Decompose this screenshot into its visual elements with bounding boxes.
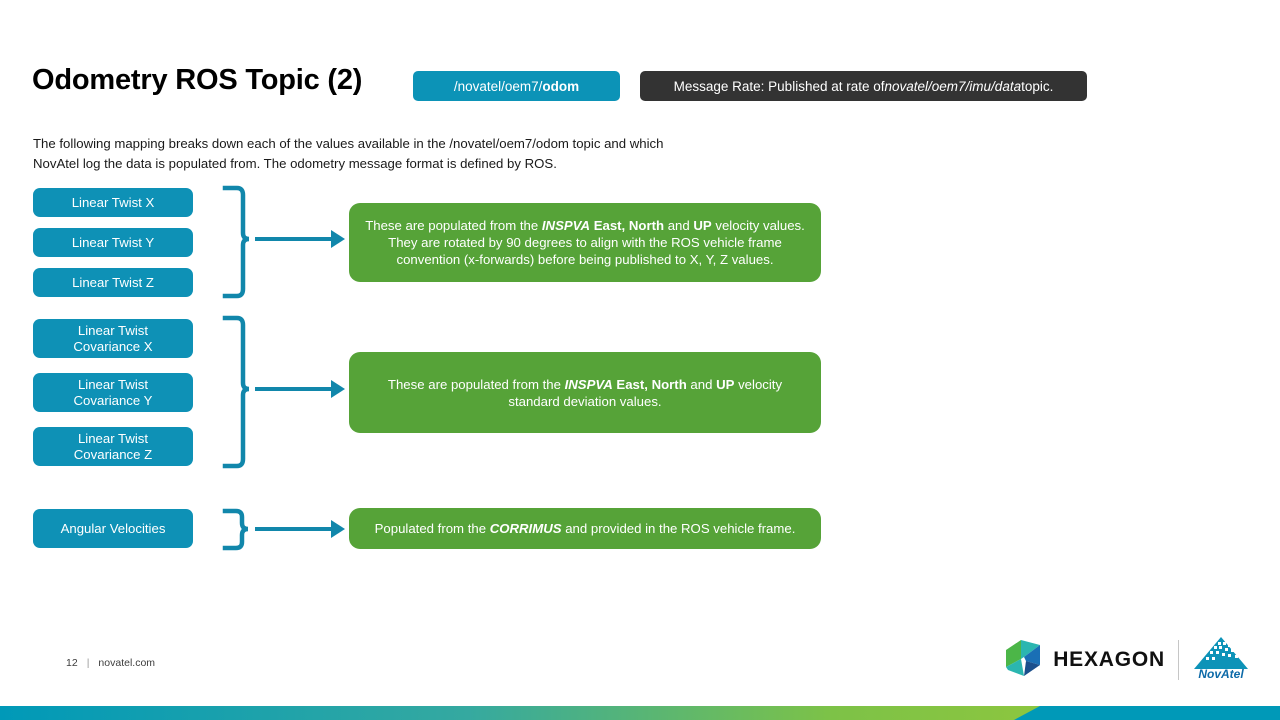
footer-meta: 12 | novatel.com [66,657,155,669]
intro-paragraph: The following mapping breaks down each o… [33,134,733,174]
callout-text-part: These are populated from the [388,377,565,392]
callout-text-part: and [687,377,716,392]
callout-linear-twist-covariance-text: These are populated from the INSPVA East… [363,376,807,410]
brace-arrow-linear-twist [219,184,349,300]
message-rate-badge: Message Rate: Published at rate of novat… [640,71,1087,101]
callout-emphasis: East, North [594,218,664,233]
rate-badge-topic: novatel/oem7/imu/data [885,79,1022,94]
hexagon-mark-icon [1004,637,1044,684]
callout-linear-twist-text: These are populated from the INSPVA East… [363,217,807,268]
novatel-logo: NovAtel [1192,635,1250,686]
hexagon-logo: HEXAGON [1004,637,1165,684]
callout-text-part: and provided in the ROS vehicle frame. [562,521,796,536]
brace-arrow-linear-twist-covariance [219,314,349,470]
brace-arrow-angular-velocities [219,508,349,552]
callout-emphasis: East, North [616,377,686,392]
callout-log-name: CORRIMUS [490,521,562,536]
hexagon-wordmark: HEXAGON [1053,648,1165,672]
page-title: Odometry ROS Topic (2) [32,64,362,97]
svg-text:NovAtel: NovAtel [1198,667,1244,681]
callout-angular-velocities: Populated from the CORRIMUS and provided… [349,508,821,549]
pill-linear-twist-covariance-y[interactable]: Linear Twist Covariance Y [33,373,193,412]
topic-badge-bold: odom [542,79,579,94]
page-number: 12 [66,657,78,669]
pill-angular-velocities[interactable]: Angular Velocities [33,509,193,548]
topic-name-badge: /novatel/oem7/odom [413,71,620,101]
bottom-accent-bar [0,706,1280,720]
footer-logos: HEXAGON [1004,634,1250,686]
topic-badge-prefix: /novatel/oem7/ [454,79,543,94]
rate-badge-suffix: topic. [1021,79,1053,94]
pill-linear-twist-covariance-x[interactable]: Linear Twist Covariance X [33,319,193,358]
callout-text-part: These are populated from the [365,218,542,233]
logo-divider [1178,640,1179,680]
callout-linear-twist: These are populated from the INSPVA East… [349,203,821,282]
footer-site: novatel.com [98,657,155,669]
pill-linear-twist-z[interactable]: Linear Twist Z [33,268,193,297]
pill-linear-twist-y[interactable]: Linear Twist Y [33,228,193,257]
footer-separator: | [87,657,90,669]
slide-canvas: Odometry ROS Topic (2) /novatel/oem7/odo… [0,0,1280,720]
rate-badge-prefix: Message Rate: Published at rate of [674,79,885,94]
callout-log-name: INSPVA [565,377,613,392]
callout-angular-velocities-text: Populated from the CORRIMUS and provided… [375,520,796,537]
callout-linear-twist-covariance: These are populated from the INSPVA East… [349,352,821,433]
pill-linear-twist-covariance-z[interactable]: Linear Twist Covariance Z [33,427,193,466]
callout-text-part: Populated from the [375,521,490,536]
callout-text-part: and [664,218,693,233]
pill-linear-twist-x[interactable]: Linear Twist X [33,188,193,217]
callout-emphasis: UP [693,218,711,233]
callout-emphasis: UP [716,377,734,392]
callout-log-name: INSPVA [542,218,590,233]
